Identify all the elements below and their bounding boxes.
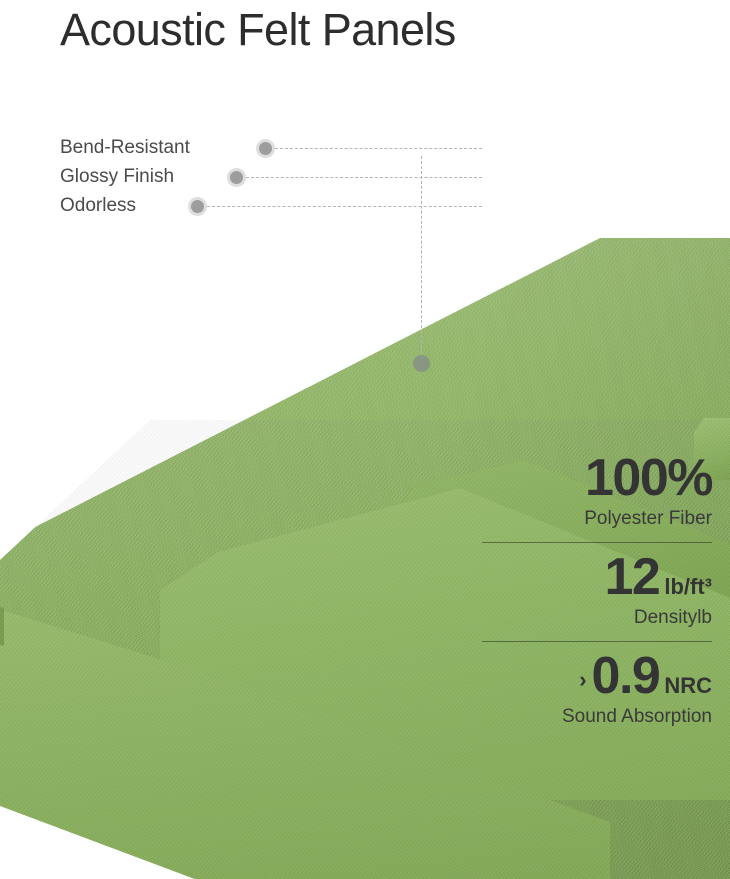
- leader-dot-icon: [191, 200, 204, 213]
- stat-sound-absorption: › 0.9 NRC Sound Absorption: [482, 650, 712, 736]
- greater-than-icon: ›: [579, 669, 586, 691]
- stat-density: 12 lb/ft³ Densitylb: [482, 551, 712, 650]
- feature-item-glossy-finish: Glossy Finish: [60, 165, 460, 194]
- feature-callout-list: Bend-Resistant Glossy Finish Odorless: [60, 136, 460, 223]
- stat-value-row: › 0.9 NRC: [482, 650, 712, 702]
- leader-dot-icon: [259, 142, 272, 155]
- page-title: Acoustic Felt Panels: [60, 4, 600, 56]
- stat-value: 12: [605, 551, 660, 603]
- stat-divider: [482, 641, 712, 642]
- leader-endpoint-icon: [413, 355, 430, 372]
- spec-stat-list: 100% Polyester Fiber 12 lb/ft³ Densitylb…: [482, 452, 712, 736]
- stat-value: 100%: [585, 452, 712, 504]
- leader-line-horizontal: [275, 148, 482, 149]
- leader-line-vertical: [421, 156, 422, 358]
- stat-value-row: 100%: [482, 452, 712, 504]
- stat-divider: [482, 542, 712, 543]
- stat-polyester-fiber: 100% Polyester Fiber: [482, 452, 712, 551]
- stat-label: Polyester Fiber: [482, 508, 712, 530]
- leader-dot-icon: [230, 171, 243, 184]
- feature-item-bend-resistant: Bend-Resistant: [60, 136, 460, 165]
- stat-unit: NRC: [664, 675, 712, 697]
- stat-value-row: 12 lb/ft³: [482, 551, 712, 603]
- leader-line-horizontal: [246, 177, 482, 178]
- stat-label: Densitylb: [482, 607, 712, 629]
- product-marketing-image: Acoustic Felt Panels Bend-Resistant Glos…: [0, 0, 730, 879]
- feature-label: Bend-Resistant: [60, 136, 190, 160]
- leader-line-horizontal: [207, 206, 482, 207]
- stat-unit: lb/ft³: [664, 576, 712, 598]
- feature-label: Odorless: [60, 194, 136, 218]
- stat-label: Sound Absorption: [482, 706, 712, 728]
- feature-item-odorless: Odorless: [60, 194, 460, 223]
- product-photo: [0, 0, 730, 879]
- stat-value: 0.9: [592, 650, 660, 702]
- feature-label: Glossy Finish: [60, 165, 174, 189]
